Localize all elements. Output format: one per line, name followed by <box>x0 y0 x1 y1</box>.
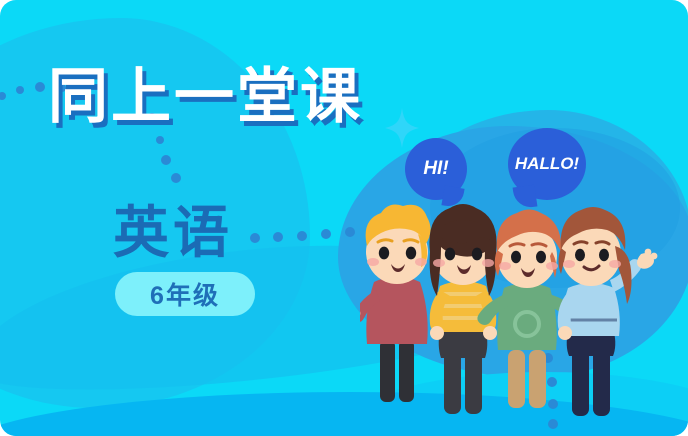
speech-bubble-hallo-text: HALLO! <box>515 154 579 174</box>
decorative-dot <box>273 232 283 242</box>
decorative-dot <box>161 155 171 165</box>
decorative-dot <box>171 173 181 183</box>
decorative-dot <box>297 231 307 241</box>
decorative-dot <box>345 227 355 237</box>
page-title: 同上一堂课 <box>48 48 363 135</box>
decorative-dot <box>35 82 45 92</box>
sparkle-icon <box>385 108 419 148</box>
speech-bubble-hi-text: HI! <box>423 158 448 180</box>
subject-title: 英语 <box>113 188 233 269</box>
decorative-dot <box>0 92 6 100</box>
decorative-dot <box>16 86 24 94</box>
grade-badge: 6年级 <box>115 272 255 316</box>
child-1 <box>360 205 431 402</box>
course-banner-card: HI! HALLO! 同上一堂课 英语 6年级 <box>0 0 688 436</box>
decorative-dot <box>250 233 260 243</box>
decorative-dot <box>156 136 164 144</box>
child-4 <box>558 207 658 416</box>
speech-bubble-hi: HI! <box>405 138 467 200</box>
grade-badge-label: 6年级 <box>150 276 220 312</box>
four-children-illustration <box>360 190 680 436</box>
decorative-dot <box>321 229 331 239</box>
speech-bubble-hallo: HALLO! <box>508 128 586 200</box>
